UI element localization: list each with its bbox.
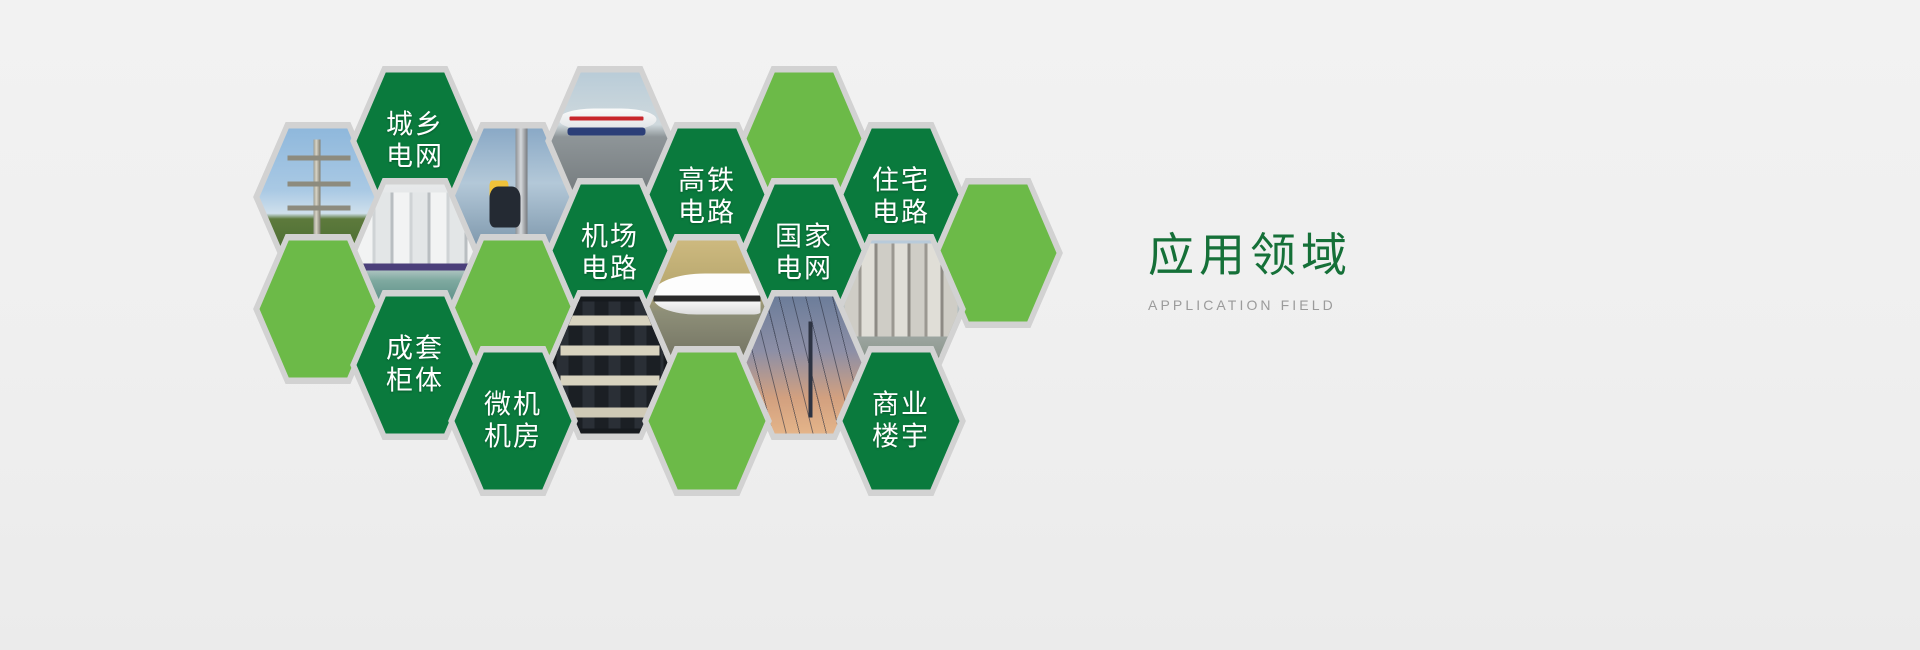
hex-label: 机场 电路 xyxy=(581,221,639,285)
banner-background: 城乡 电网 住宅 电路 xyxy=(0,0,1920,650)
page-subtitle: APPLICATION FIELD xyxy=(1148,297,1568,313)
hex-label: 住宅 电路 xyxy=(872,165,930,229)
heading-block: 应用领域 APPLICATION FIELD xyxy=(1148,228,1568,313)
hex-label: 成套 柜体 xyxy=(386,333,444,397)
page-title: 应用领域 xyxy=(1148,228,1568,283)
hex-label: 城乡 电网 xyxy=(386,109,444,173)
hex-label: 高铁 电路 xyxy=(678,165,736,229)
hexagon-honeycomb: 城乡 电网 住宅 电路 xyxy=(0,0,1100,650)
hex-label: 商业 楼宇 xyxy=(872,389,930,453)
hex-label: 微机 机房 xyxy=(484,389,542,453)
hex-label: 国家 电网 xyxy=(775,221,833,285)
